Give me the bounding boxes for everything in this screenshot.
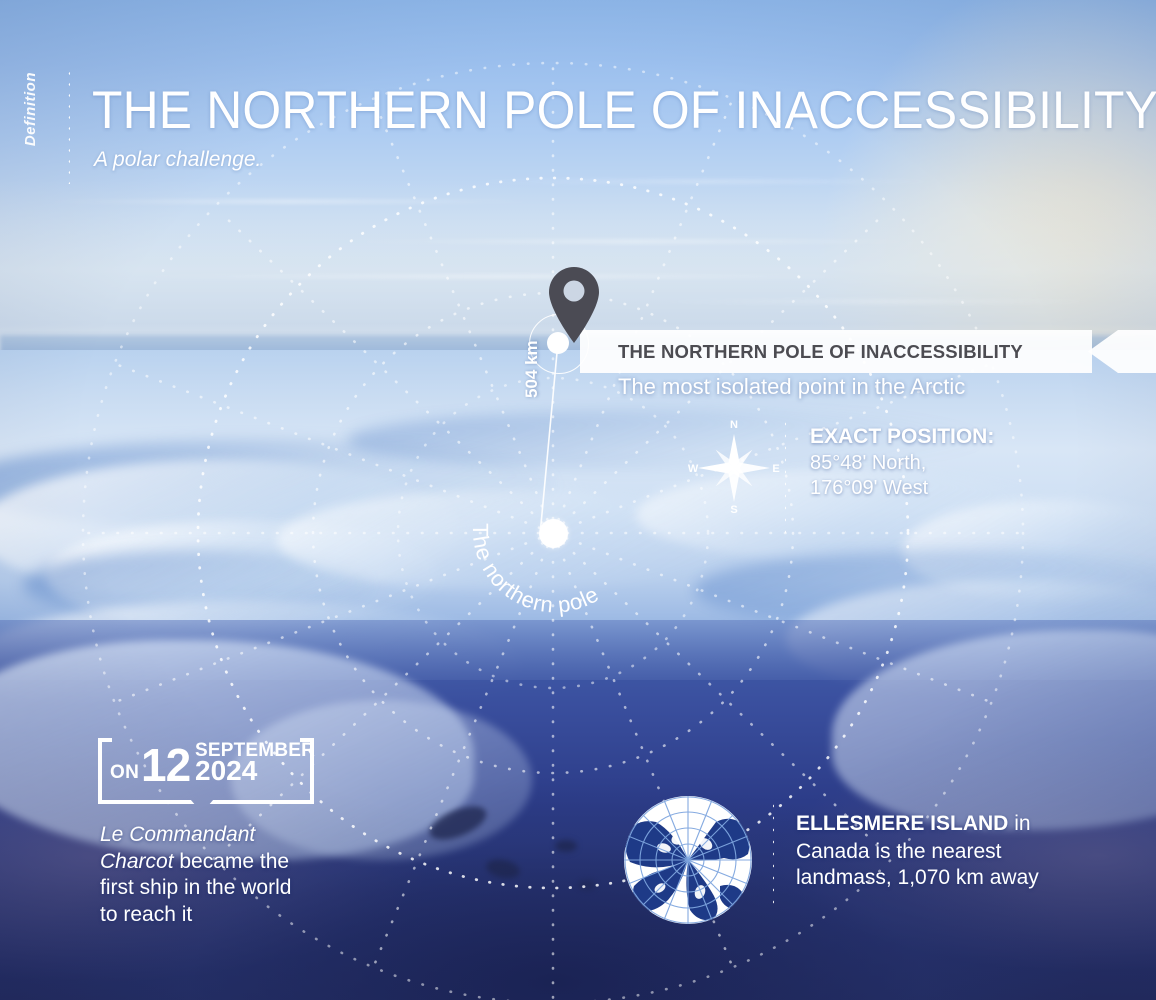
- svg-text:The northern pole: The northern pole: [468, 523, 603, 617]
- ellesmere-dotted-rule: [772, 800, 774, 910]
- compass-north-label: N: [730, 419, 738, 431]
- eyebrow-dotted-rule: [68, 68, 70, 184]
- position-dotted-rule: [784, 418, 786, 538]
- ship-name: Le Commandant: [100, 823, 255, 846]
- ship-name-2: Charcot: [100, 850, 174, 873]
- ship-caption-line1: became the: [174, 850, 290, 873]
- ellesmere-line2: Canada is the nearest: [796, 840, 1001, 864]
- ellesmere-line1: ELLESMERE ISLAND in: [796, 812, 1031, 836]
- date-badge-day: 12: [141, 742, 190, 788]
- distance-label: 504 km: [522, 340, 542, 398]
- date-badge-on: ON: [110, 762, 139, 784]
- compass-east-label: E: [772, 463, 779, 475]
- compass-west-label: W: [688, 463, 699, 475]
- page-subtitle: A polar challenge.: [94, 148, 261, 172]
- position-latitude: 85°48' North,: [810, 452, 926, 475]
- ellesmere-line3: landmass, 1,070 km away: [796, 866, 1039, 890]
- compass-south-label: S: [730, 504, 737, 516]
- ship-caption-line2: first ship in the world: [100, 876, 291, 899]
- page-title: THE NORTHERN POLE OF INACCESSIBILITY: [92, 84, 1156, 137]
- marker-ribbon-label: THE NORTHERN POLE OF INACCESSIBILITY: [618, 330, 1023, 373]
- compass-rose-icon: N S E W: [688, 416, 780, 516]
- ellesmere-island-name: ELLESMERE ISLAND: [796, 812, 1008, 835]
- date-badge-year: 2024: [195, 757, 257, 785]
- infographic-root: Definition THE NORTHERN POLE OF INACCESS…: [0, 0, 1156, 1000]
- eyebrow-definition: Definition: [22, 72, 39, 146]
- ship-caption: Le Commandant Charcot became the first s…: [100, 822, 370, 929]
- position-title: EXACT POSITION:: [810, 425, 994, 449]
- marker-ribbon-sublabel: The most isolated point in the Arctic: [618, 374, 965, 400]
- ellesmere-line1-rest: in: [1008, 812, 1030, 835]
- arctic-globe-icon: [620, 792, 756, 928]
- north-pole-curved-label: The northern pole: [455, 435, 655, 635]
- position-longitude: 176°09' West: [810, 477, 928, 500]
- ship-caption-line3: to reach it: [100, 903, 192, 926]
